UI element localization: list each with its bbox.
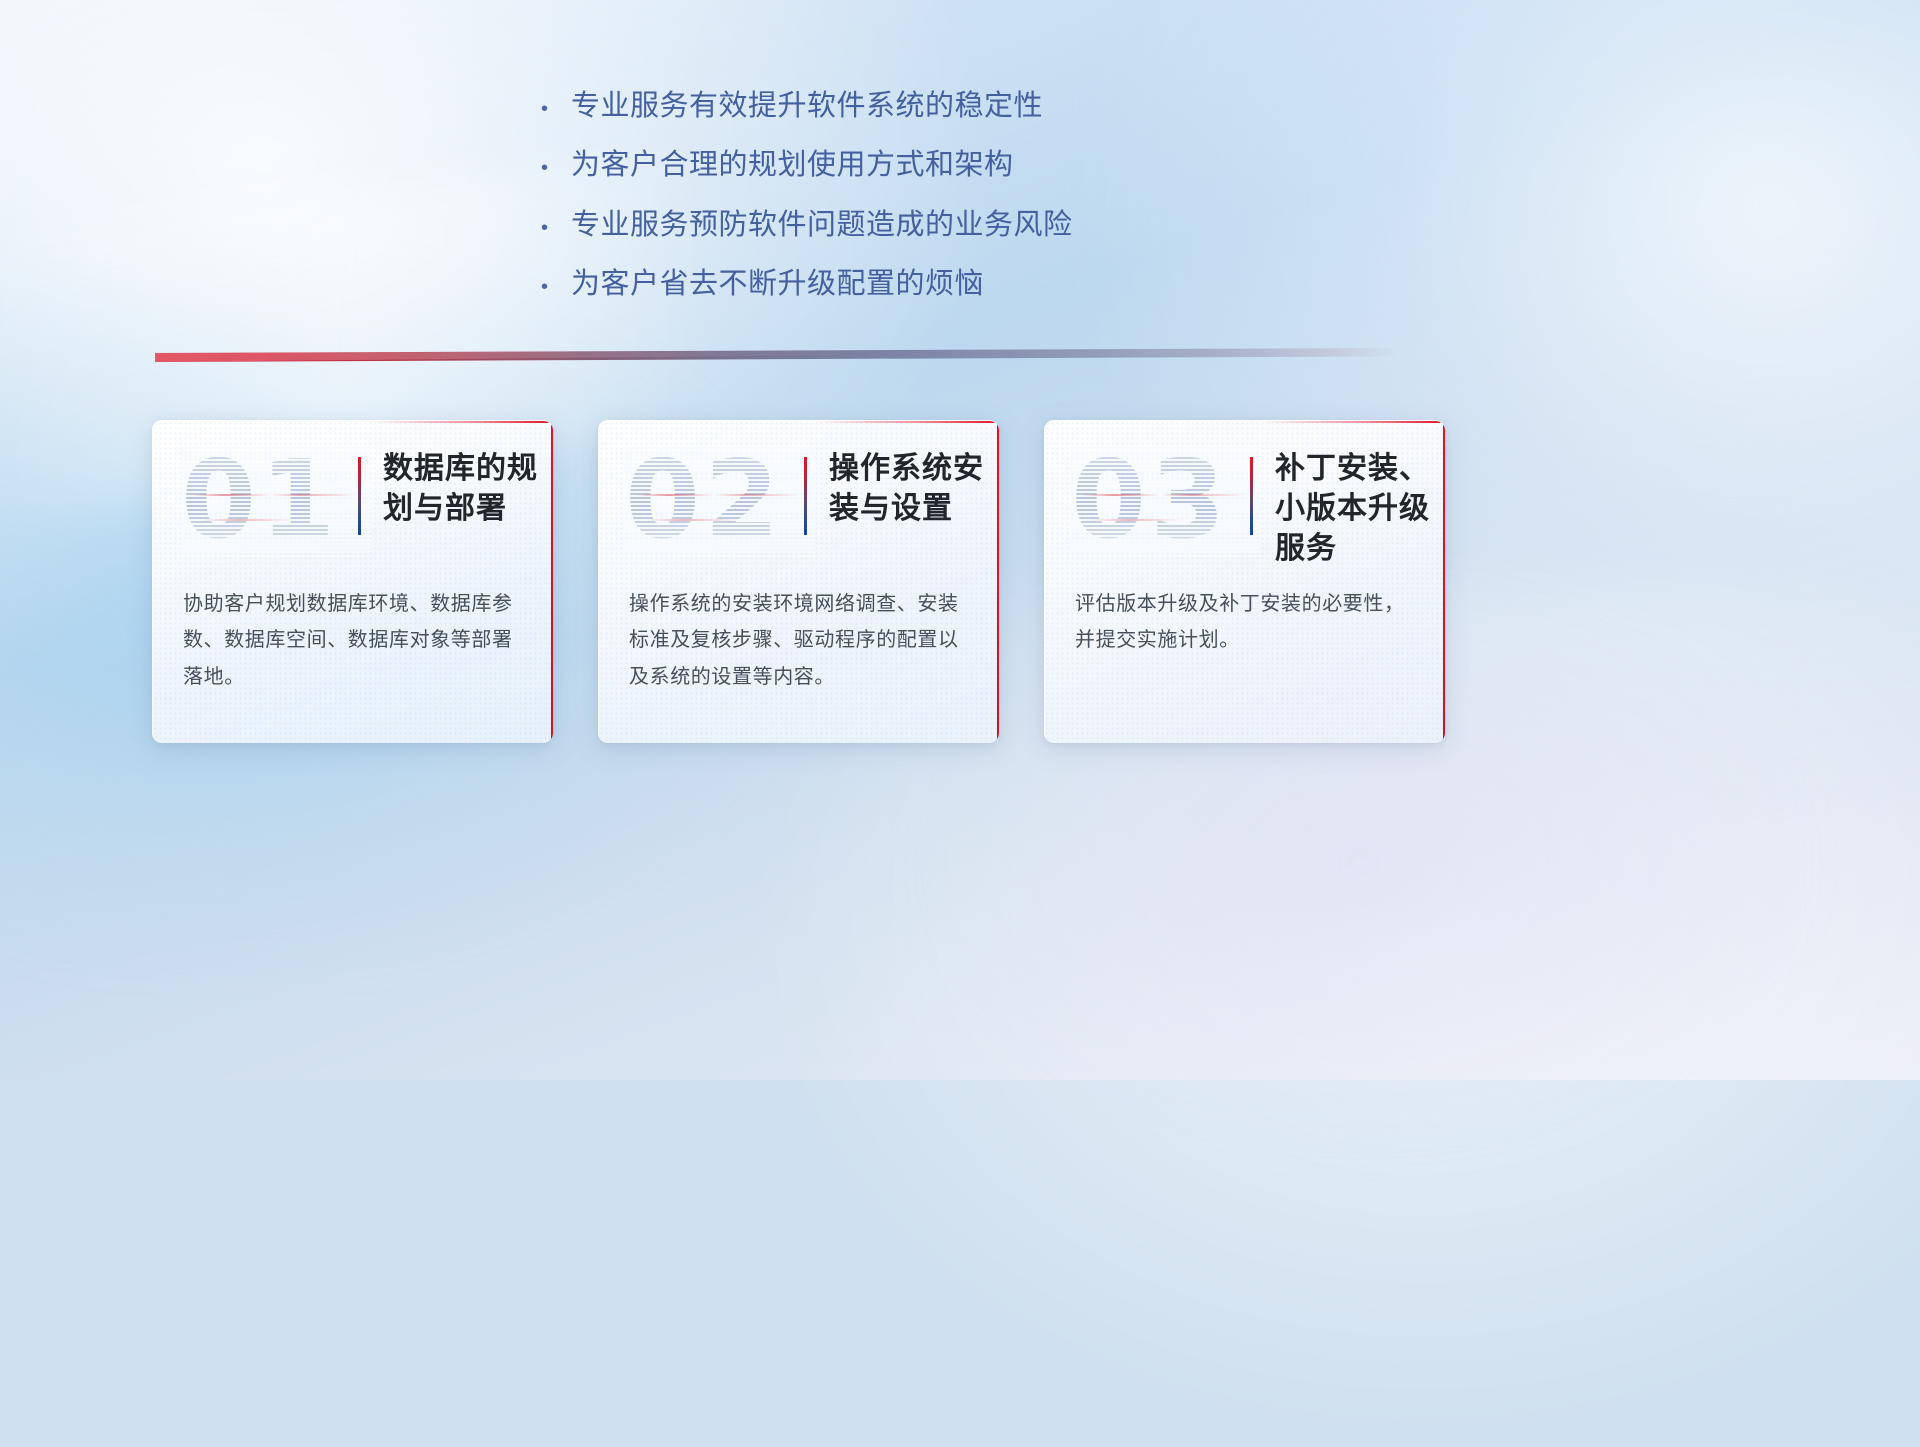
card-title-block: 操作系统安装与设置 bbox=[804, 449, 999, 535]
bullet-dot-icon: • bbox=[537, 158, 571, 178]
card-number-text: 02 bbox=[625, 445, 815, 557]
bullet-dot-icon: • bbox=[537, 218, 571, 238]
card-description: 评估版本升级及补丁安装的必要性，并提交实施计划。 bbox=[1075, 586, 1417, 659]
card-title-accent-bar bbox=[358, 457, 361, 535]
card-title: 补丁安装、小版本升级服务 bbox=[1275, 449, 1445, 570]
section-divider bbox=[155, 348, 1397, 362]
card-number-glitch-line-2 bbox=[200, 519, 333, 521]
bullet-item: • 为客户省去不断升级配置的烦恼 bbox=[537, 266, 1357, 302]
card-number-text: 01 bbox=[181, 445, 371, 557]
card-title: 操作系统安装与设置 bbox=[829, 449, 999, 529]
card-number-glitch-line bbox=[1082, 494, 1245, 496]
card-number-glitch-line bbox=[192, 494, 355, 496]
card-number-watermark: 01 bbox=[181, 445, 371, 557]
bullet-item: • 专业服务预防软件问题造成的业务风险 bbox=[537, 207, 1357, 243]
card-title-block: 补丁安装、小版本升级服务 bbox=[1250, 449, 1445, 570]
bullet-item-text: 为客户省去不断升级配置的烦恼 bbox=[571, 266, 984, 302]
bullet-item-text: 专业服务预防软件问题造成的业务风险 bbox=[571, 207, 1073, 243]
service-card[interactable]: 02 操作系统安装与设置 操作系统的安装环境网络调查、安装标准及复核步骤、驱动程… bbox=[598, 420, 999, 743]
bullet-dot-icon: • bbox=[537, 277, 571, 297]
card-number-watermark: 02 bbox=[625, 445, 815, 557]
service-card[interactable]: 03 补丁安装、小版本升级服务 评估版本升级及补丁安装的必要性，并提交实施计划。 bbox=[1044, 420, 1445, 743]
card-number-glitch-line-2 bbox=[644, 519, 777, 521]
card-title-accent-bar bbox=[1250, 457, 1253, 535]
bullet-item: • 为客户合理的规划使用方式和架构 bbox=[537, 147, 1357, 183]
card-title-accent-bar bbox=[804, 457, 807, 535]
bullet-item-text: 专业服务有效提升软件系统的稳定性 bbox=[571, 88, 1043, 124]
card-number-text: 03 bbox=[1071, 445, 1261, 557]
card-number-watermark: 03 bbox=[1071, 445, 1261, 557]
card-title: 数据库的规划与部署 bbox=[383, 449, 553, 529]
card-number-glitch-line-2 bbox=[1090, 519, 1223, 521]
bullet-dot-icon: • bbox=[537, 99, 571, 119]
benefits-bullet-list: • 专业服务有效提升软件系统的稳定性 • 为客户合理的规划使用方式和架构 • 专… bbox=[537, 88, 1357, 325]
bullet-item-text: 为客户合理的规划使用方式和架构 bbox=[571, 147, 1014, 183]
bullet-item: • 专业服务有效提升软件系统的稳定性 bbox=[537, 88, 1357, 124]
card-description: 协助客户规划数据库环境、数据库参数、数据库空间、数据库对象等部署落地。 bbox=[183, 586, 525, 695]
card-number-glitch-line bbox=[636, 494, 799, 496]
service-card[interactable]: 01 数据库的规划与部署 协助客户规划数据库环境、数据库参数、数据库空间、数据库… bbox=[152, 420, 553, 743]
service-card-list: 01 数据库的规划与部署 协助客户规划数据库环境、数据库参数、数据库空间、数据库… bbox=[152, 420, 1452, 742]
card-description: 操作系统的安装环境网络调查、安装标准及复核步骤、驱动程序的配置以及系统的设置等内… bbox=[629, 586, 971, 695]
card-title-block: 数据库的规划与部署 bbox=[358, 449, 553, 535]
